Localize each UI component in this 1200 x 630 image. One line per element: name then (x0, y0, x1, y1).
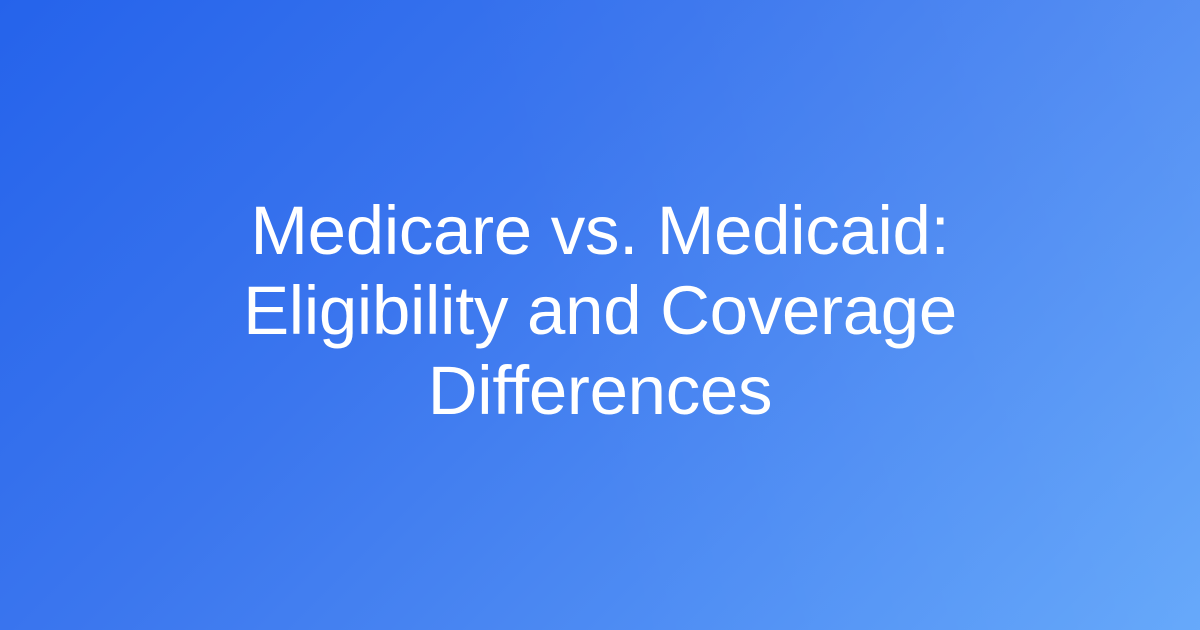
social-share-card: Medicare vs. Medicaid: Eligibility and C… (0, 0, 1200, 630)
card-content: Medicare vs. Medicaid: Eligibility and C… (70, 195, 1130, 435)
page-title: Medicare vs. Medicaid: Eligibility and C… (110, 191, 1090, 431)
